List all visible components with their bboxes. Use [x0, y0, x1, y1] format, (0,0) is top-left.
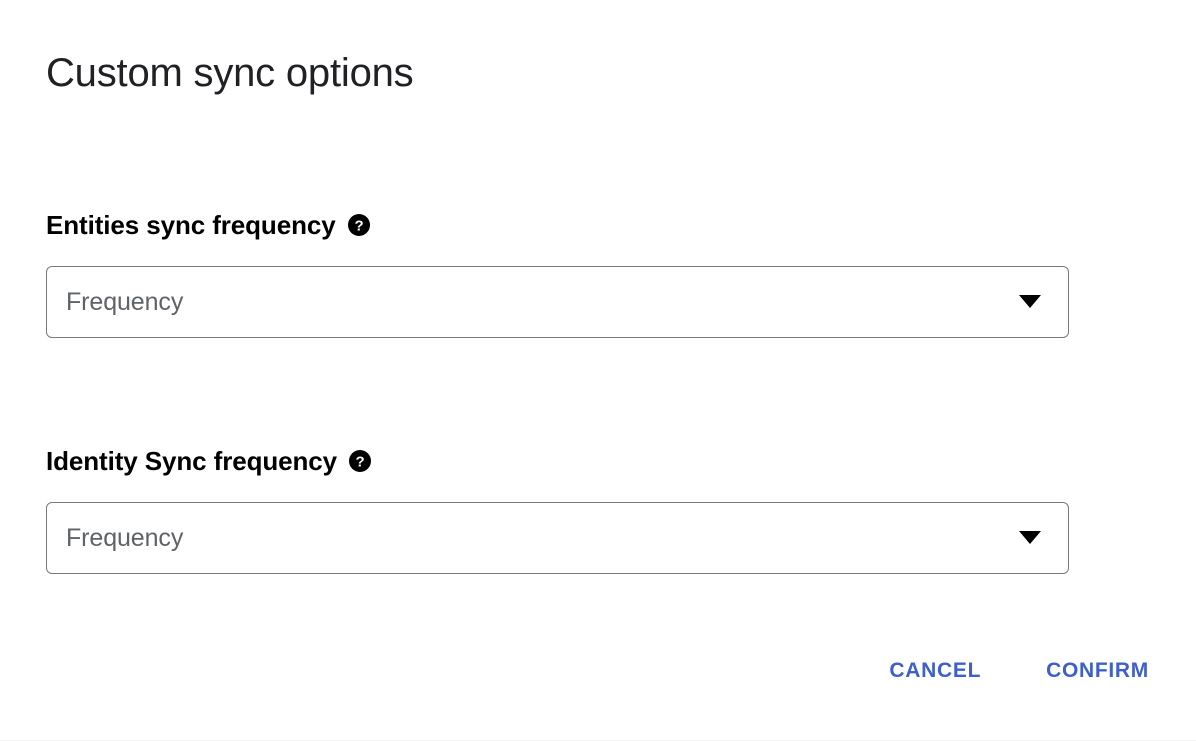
label-entities-sync-frequency-text: Entities sync frequency: [46, 208, 336, 242]
field-group-entities-sync-frequency: Entities sync frequency ? Frequency: [46, 208, 1070, 338]
chevron-down-icon[interactable]: [1018, 290, 1042, 314]
help-circle-icon[interactable]: ?: [349, 450, 371, 472]
svg-text:?: ?: [354, 217, 363, 234]
chevron-down-icon[interactable]: [1018, 526, 1042, 550]
dialog-actions: CANCEL CONFIRM: [889, 656, 1149, 686]
cancel-button[interactable]: CANCEL: [889, 656, 981, 686]
confirm-button[interactable]: CONFIRM: [1046, 656, 1149, 686]
svg-text:?: ?: [355, 453, 364, 470]
select-entities-sync-frequency-value: Frequency: [47, 290, 183, 315]
dialog-title: Custom sync options: [46, 50, 413, 96]
help-circle-icon[interactable]: ?: [348, 214, 370, 236]
label-entities-sync-frequency: Entities sync frequency ?: [46, 208, 1070, 242]
custom-sync-options-dialog: Custom sync options Entities sync freque…: [0, 0, 1196, 741]
select-entities-sync-frequency[interactable]: Frequency: [46, 266, 1069, 338]
select-identity-sync-frequency[interactable]: Frequency: [46, 502, 1069, 574]
label-identity-sync-frequency: Identity Sync frequency ?: [46, 444, 1070, 478]
field-group-identity-sync-frequency: Identity Sync frequency ? Frequency: [46, 444, 1070, 574]
select-identity-sync-frequency-value: Frequency: [47, 526, 183, 551]
label-identity-sync-frequency-text: Identity Sync frequency: [46, 444, 337, 478]
